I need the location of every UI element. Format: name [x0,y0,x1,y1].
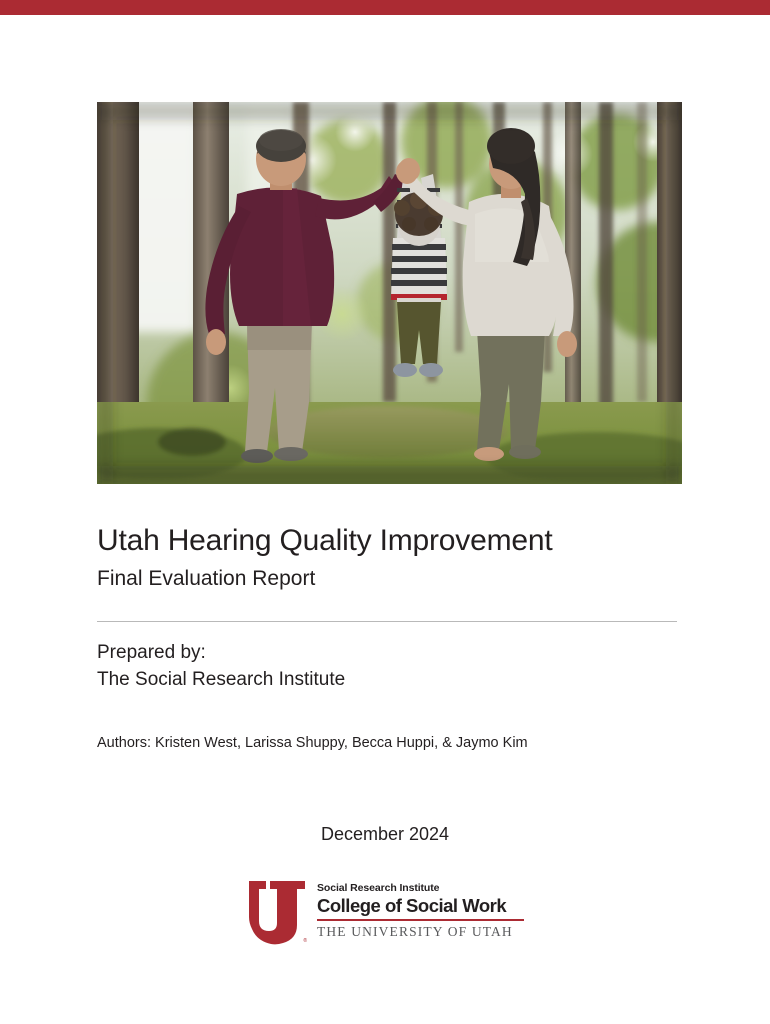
logo-line-institute: Social Research Institute [317,883,524,895]
page-title: Utah Hearing Quality Improvement [97,524,697,558]
prepared-by-label: Prepared by: [97,640,697,667]
block-u-icon: ® [249,881,305,945]
cover-photo [97,102,682,484]
registered-trademark-icon: ® [303,939,307,944]
logo-red-rule [317,919,524,921]
logo-line-college: College of Social Work [317,896,524,917]
block-u-shape [249,881,305,945]
logo-text-block: Social Research Institute College of Soc… [317,881,524,940]
prepared-by-block: Prepared by: The Social Research Institu… [97,640,697,694]
prepared-by-organization: The Social Research Institute [97,667,697,694]
university-logo-lockup: ® Social Research Institute College of S… [249,881,524,947]
page-subtitle: Final Evaluation Report [97,566,697,591]
title-divider-rule [97,621,677,622]
top-crimson-banner [0,0,770,15]
publication-date: December 2024 [0,824,770,845]
authors-line: Authors: Kristen West, Larissa Shuppy, B… [97,735,528,751]
logo-line-university: THE UNIVERSITY OF UTAH [317,924,524,940]
cover-photo-illustration [97,102,682,484]
title-block: Utah Hearing Quality Improvement Final E… [97,524,697,591]
